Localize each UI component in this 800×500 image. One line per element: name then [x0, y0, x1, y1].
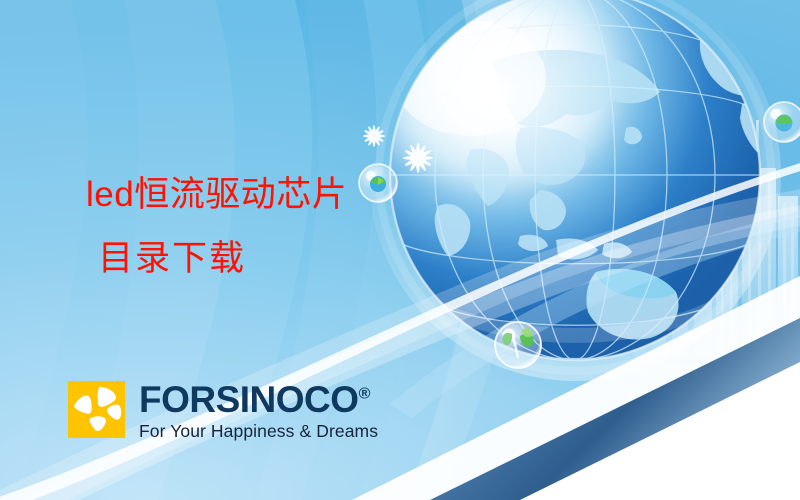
headline-line-2: 目录下载: [86, 227, 347, 291]
bubble-leaf-icon: [495, 322, 541, 368]
company-name: FORSINOCO®: [139, 381, 378, 418]
logo-wordmark: FORSINOCO® For Your Happiness & Dreams: [139, 381, 378, 441]
headline-text: led恒流驱动芯片 目录下载: [86, 163, 347, 291]
pinwheel-petals-icon: [68, 381, 125, 438]
forsinoco-pinwheel-mark: [68, 381, 125, 438]
company-name-text: FORSINOCO: [139, 379, 359, 420]
bubble-globe-icon: [359, 164, 397, 202]
registered-trademark-symbol: ®: [359, 386, 371, 403]
headline-line-1: led恒流驱动芯片: [86, 163, 347, 227]
company-logo[interactable]: FORSINOCO® For Your Happiness & Dreams: [68, 381, 378, 441]
promo-banner: led恒流驱动芯片 目录下载 FORSINOCO® For Your Happi…: [0, 0, 800, 500]
bubble-edge-icon: [764, 102, 800, 142]
company-tagline: For Your Happiness & Dreams: [139, 421, 378, 441]
